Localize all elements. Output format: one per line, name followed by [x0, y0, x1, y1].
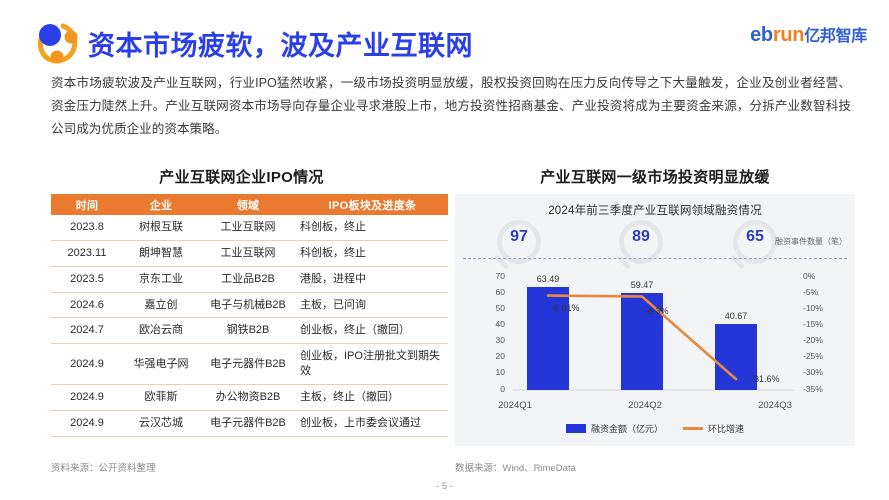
cell-company: 欧菲斯 [123, 384, 199, 410]
cell-field: 办公物资B2B [199, 384, 297, 410]
cell-ipo-status: 主板，已问询 [297, 292, 448, 318]
cell-time: 2023.8 [51, 215, 123, 240]
chart-card: 2024年前三季度产业互联网领域融资情况 97 89 65 融资事件数量（笔） [455, 194, 855, 446]
column-header-ipo-status: IPO板块及进度条 [297, 194, 448, 215]
table-row: 2024.9 云汉芯城 电子元器件B2B 创业板，上市委会议通过 [51, 410, 448, 436]
svg-text:-20%: -20% [803, 335, 823, 345]
svg-text:40: 40 [496, 319, 506, 329]
kpi-value: 97 [491, 228, 547, 246]
table-row: 2024.9 华强电子网 电子元器件B2B 创业板，IPO注册批文到期失效 [51, 344, 448, 385]
column-header-time: 时间 [51, 194, 123, 215]
svg-text:10: 10 [496, 367, 506, 377]
svg-text:63.49: 63.49 [537, 274, 560, 284]
svg-text:-15%: -15% [803, 319, 823, 329]
page-number: - 5 - [0, 481, 889, 492]
cell-time: 2023.11 [51, 240, 123, 266]
cell-company: 嘉立创 [123, 292, 199, 318]
svg-text:-5%: -5% [803, 287, 819, 297]
cell-field: 电子元器件B2B [199, 344, 297, 385]
brand-logotype: ebrun亿邦智库 [750, 22, 867, 47]
cell-company: 华强电子网 [123, 344, 199, 385]
svg-text:-30%: -30% [803, 367, 823, 377]
svg-text:20: 20 [496, 351, 506, 361]
cell-ipo-status: 港股，进程中 [297, 266, 448, 292]
legend-item-growth: 环比增速 [683, 422, 744, 435]
cell-ipo-status: 科创板，终止 [297, 215, 448, 240]
legend-item-amount: 融资金额（亿元） [566, 422, 663, 435]
cell-ipo-status: 创业板，终止（撤回） [297, 318, 448, 344]
brand-run: run [773, 24, 804, 46]
cell-company: 树根互联 [123, 215, 199, 240]
table-row: 2024.9 欧菲斯 办公物资B2B 主板，终止（撤回） [51, 384, 448, 410]
x-tick-label: 2024Q2 [615, 400, 675, 411]
legend-label: 环比增速 [708, 422, 744, 435]
table-row: 2023.5 京东工业 工业品B2B 港股，进程中 [51, 266, 448, 292]
lead-paragraph: 资本市场疲软波及产业互联网，行业IPO猛然收紧，一级市场投资明显放缓，股权投资回… [51, 72, 851, 141]
x-tick-label: 2024Q1 [485, 400, 545, 411]
svg-text:40.67: 40.67 [725, 311, 748, 321]
table-row: 2023.11 朗坤智慧 工业互联网 科创板，终止 [51, 240, 448, 266]
cell-time: 2024.9 [51, 384, 123, 410]
table-row: 2023.8 树根互联 工业互联网 科创板，终止 [51, 215, 448, 240]
chart-x-axis-labels: 2024Q1 2024Q2 2024Q3 [455, 400, 855, 416]
cell-company: 京东工业 [123, 266, 199, 292]
cell-ipo-status: 创业板，上市委会议通过 [297, 410, 448, 436]
column-header-company: 企业 [123, 194, 199, 215]
cell-ipo-status: 科创板，终止 [297, 240, 448, 266]
chart-legend: 融资金额（亿元） 环比增速 [455, 422, 855, 435]
cell-field: 工业互联网 [199, 240, 297, 266]
table-title: 产业互联网企业IPO情况 [51, 166, 432, 187]
cell-time: 2024.7 [51, 318, 123, 344]
cell-field: 工业互联网 [199, 215, 297, 240]
network-nodes-icon [33, 20, 81, 66]
cell-field: 电子与机械B2B [199, 292, 297, 318]
cell-time: 2024.9 [51, 410, 123, 436]
slide: ebrun亿邦智库 资本市场疲软，波及产业互联网 资本市场疲软波及产业互联网，行… [0, 0, 889, 500]
svg-text:-25%: -25% [803, 351, 823, 361]
svg-text:0: 0 [500, 384, 505, 394]
cell-time: 2023.5 [51, 266, 123, 292]
cell-field: 钢铁B2B [199, 318, 297, 344]
cell-ipo-status: 创业板，IPO注册批文到期失效 [297, 344, 448, 385]
svg-text:-6.3%: -6.3% [645, 306, 669, 316]
column-header-field: 领域 [199, 194, 297, 215]
svg-text:-6.01%: -6.01% [551, 303, 580, 313]
svg-text:-10%: -10% [803, 303, 823, 313]
cell-field: 电子元器件B2B [199, 410, 297, 436]
brand-cn: 亿邦智库 [804, 28, 867, 45]
legend-swatch-line-icon [683, 427, 703, 430]
chart-plot-area: 70 60 50 40 30 20 10 0 0% -5% -10% -15% … [455, 262, 855, 400]
svg-text:59.47: 59.47 [631, 280, 654, 290]
cell-company: 欧冶云商 [123, 318, 199, 344]
svg-text:-31.6%: -31.6% [751, 374, 780, 384]
left-source-note: 资料来源：公开资料整理 [51, 460, 156, 474]
cell-company: 云汉芯城 [123, 410, 199, 436]
legend-label: 融资金额（亿元） [591, 422, 663, 435]
brand-eb: eb [750, 24, 773, 46]
cell-company: 朗坤智慧 [123, 240, 199, 266]
cell-time: 2024.6 [51, 292, 123, 318]
page-title: 资本市场疲软，波及产业互联网 [88, 24, 473, 63]
right-source-note: 数据来源：Wind、RimeData [455, 460, 576, 474]
svg-text:50: 50 [496, 303, 506, 313]
svg-text:-35%: -35% [803, 384, 823, 394]
ipo-table: 时间 企业 领域 IPO板块及进度条 2023.8 树根互联 工业互联网 科创板… [51, 194, 448, 437]
cell-field: 工业品B2B [199, 266, 297, 292]
chart-title: 2024年前三季度产业互联网领域融资情况 [455, 202, 855, 218]
kpi-unit-label: 融资事件数量（笔） [775, 236, 847, 247]
table-row: 2024.7 欧冶云商 钢铁B2B 创业板，终止（撤回） [51, 318, 448, 344]
svg-text:60: 60 [496, 287, 506, 297]
divider [463, 258, 847, 259]
cell-ipo-status: 主板，终止（撤回） [297, 384, 448, 410]
table-header-row: 时间 企业 领域 IPO板块及进度条 [51, 194, 448, 215]
cell-time: 2024.9 [51, 344, 123, 385]
chart-panel-title: 产业互联网一级市场投资明显放缓 [455, 166, 855, 187]
kpi-value: 89 [613, 228, 669, 246]
table-row: 2024.6 嘉立创 电子与机械B2B 主板，已问询 [51, 292, 448, 318]
svg-text:0%: 0% [803, 271, 816, 281]
x-tick-label: 2024Q3 [745, 400, 805, 411]
svg-text:70: 70 [496, 271, 506, 281]
svg-text:30: 30 [496, 335, 506, 345]
legend-swatch-bar-icon [566, 424, 586, 433]
